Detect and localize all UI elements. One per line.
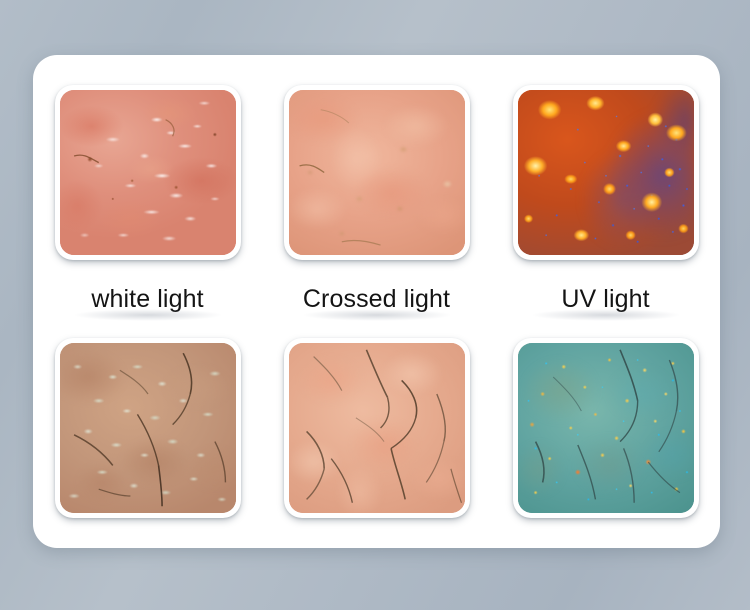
cell-top-white-light bbox=[33, 85, 262, 260]
caption-white-light: white light bbox=[91, 287, 203, 312]
photo-tile-white-light-bottom[interactable] bbox=[55, 338, 241, 518]
hair-strand-overlay bbox=[60, 343, 236, 513]
photo-crossed-light-hairy-skin bbox=[289, 343, 465, 513]
photo-tile-crossed-light-bottom[interactable] bbox=[284, 338, 470, 518]
bottom-photo-row bbox=[33, 338, 720, 518]
cell-top-crossed-light bbox=[262, 85, 491, 260]
caption-crossed-light: Crossed light bbox=[303, 287, 450, 312]
cell-top-uv-light bbox=[491, 85, 720, 260]
hair-strand-overlay bbox=[289, 90, 465, 255]
caption-uv-light: UV light bbox=[561, 287, 649, 312]
hair-strand-overlay bbox=[289, 343, 465, 513]
hair-strand-overlay bbox=[518, 343, 694, 513]
photo-tile-uv-light-bottom[interactable] bbox=[513, 338, 699, 518]
panel-grid: white light Crossed light UV light bbox=[33, 55, 720, 548]
cell-caption-white-light: white light bbox=[33, 277, 262, 321]
cell-bottom-uv-light bbox=[491, 338, 720, 518]
photo-tile-uv-light-top[interactable] bbox=[513, 85, 699, 260]
photo-uv-light-porphyrin-skin bbox=[518, 90, 694, 255]
photo-crossed-light-smooth-skin bbox=[289, 90, 465, 255]
photo-white-light-oily-skin bbox=[60, 90, 236, 255]
image-grid-card: white light Crossed light UV light bbox=[33, 55, 720, 548]
cell-bottom-crossed-light bbox=[262, 338, 491, 518]
cell-caption-uv-light: UV light bbox=[491, 277, 720, 321]
photo-white-light-dry-skin bbox=[60, 343, 236, 513]
photo-uv-light-teal-skin bbox=[518, 343, 694, 513]
photo-tile-crossed-light-top[interactable] bbox=[284, 85, 470, 260]
photo-tile-white-light-top[interactable] bbox=[55, 85, 241, 260]
bottom-white-strip bbox=[0, 610, 750, 616]
hair-strand-overlay bbox=[60, 90, 236, 255]
cell-bottom-white-light bbox=[33, 338, 262, 518]
caption-row: white light Crossed light UV light bbox=[33, 277, 720, 321]
top-photo-row bbox=[33, 85, 720, 260]
cell-caption-crossed-light: Crossed light bbox=[262, 277, 491, 321]
uv-porphyrin-spot-layer bbox=[518, 90, 694, 255]
figure-stage: white light Crossed light UV light bbox=[0, 0, 750, 616]
